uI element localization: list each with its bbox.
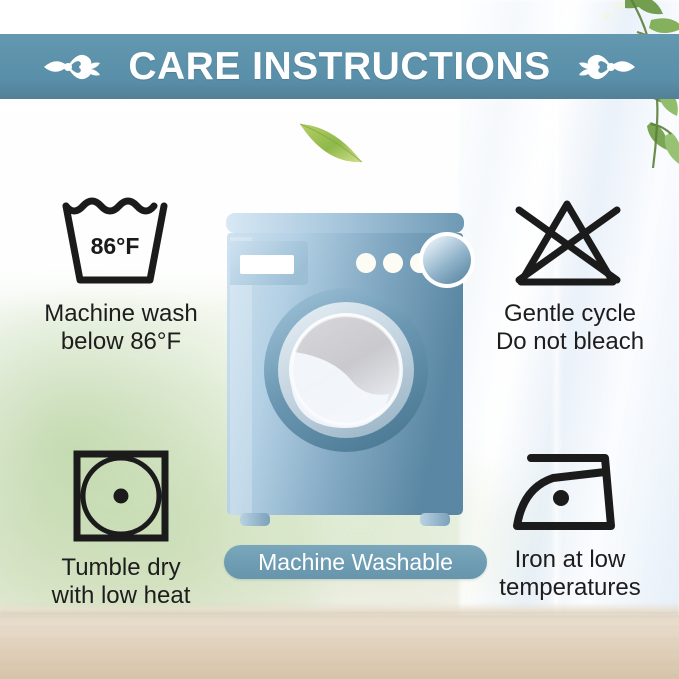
control-knob xyxy=(419,232,475,288)
washing-machine-illustration xyxy=(200,195,490,535)
machine-foot-right xyxy=(420,513,450,526)
care-label-machine-wash: Machine wash below 86°F xyxy=(44,300,197,356)
detergent-drawer xyxy=(230,241,308,285)
iron-one-dot-icon xyxy=(509,446,631,538)
care-label-gentle-cycle: Gentle cycle Do not bleach xyxy=(496,300,644,356)
header-banner: CARE INSTRUCTIONS xyxy=(0,34,679,99)
wooden-table-surface xyxy=(0,615,679,679)
fleur-de-lis-ornament-left xyxy=(44,45,106,89)
wash-tub-icon: 86°F xyxy=(56,196,186,292)
care-item-gentle-cycle-no-bleach: Gentle cycle Do not bleach xyxy=(470,196,670,356)
fleur-de-lis-ornament-right xyxy=(573,45,635,89)
control-button-2 xyxy=(383,253,403,273)
machine-washable-badge-label: Machine Washable xyxy=(258,551,453,574)
machine-control-buttons xyxy=(356,253,430,273)
wood-grain-texture xyxy=(0,615,679,679)
page-title: CARE INSTRUCTIONS xyxy=(128,47,550,86)
control-button-1 xyxy=(356,253,376,273)
care-instructions-graphic: CARE INSTRUCTIONS 86°F xyxy=(0,0,679,679)
care-item-tumble-dry: Tumble dry with low heat xyxy=(18,446,224,610)
care-item-machine-wash: 86°F Machine wash below 86°F xyxy=(18,196,224,356)
care-label-tumble-dry: Tumble dry with low heat xyxy=(52,554,191,610)
care-label-iron: Iron at low temperatures xyxy=(499,546,640,602)
leaf-decoration xyxy=(296,120,368,166)
machine-top-panel xyxy=(226,213,464,233)
care-item-iron-low: Iron at low temperatures xyxy=(470,446,670,602)
machine-washable-badge: Machine Washable xyxy=(224,545,487,579)
machine-foot-left xyxy=(240,513,270,526)
triangle-crossed-out-icon xyxy=(505,196,635,292)
tumble-dry-low-heat-icon xyxy=(65,446,177,546)
machine-door xyxy=(264,288,428,452)
wash-temperature-value: 86°F xyxy=(91,233,140,259)
